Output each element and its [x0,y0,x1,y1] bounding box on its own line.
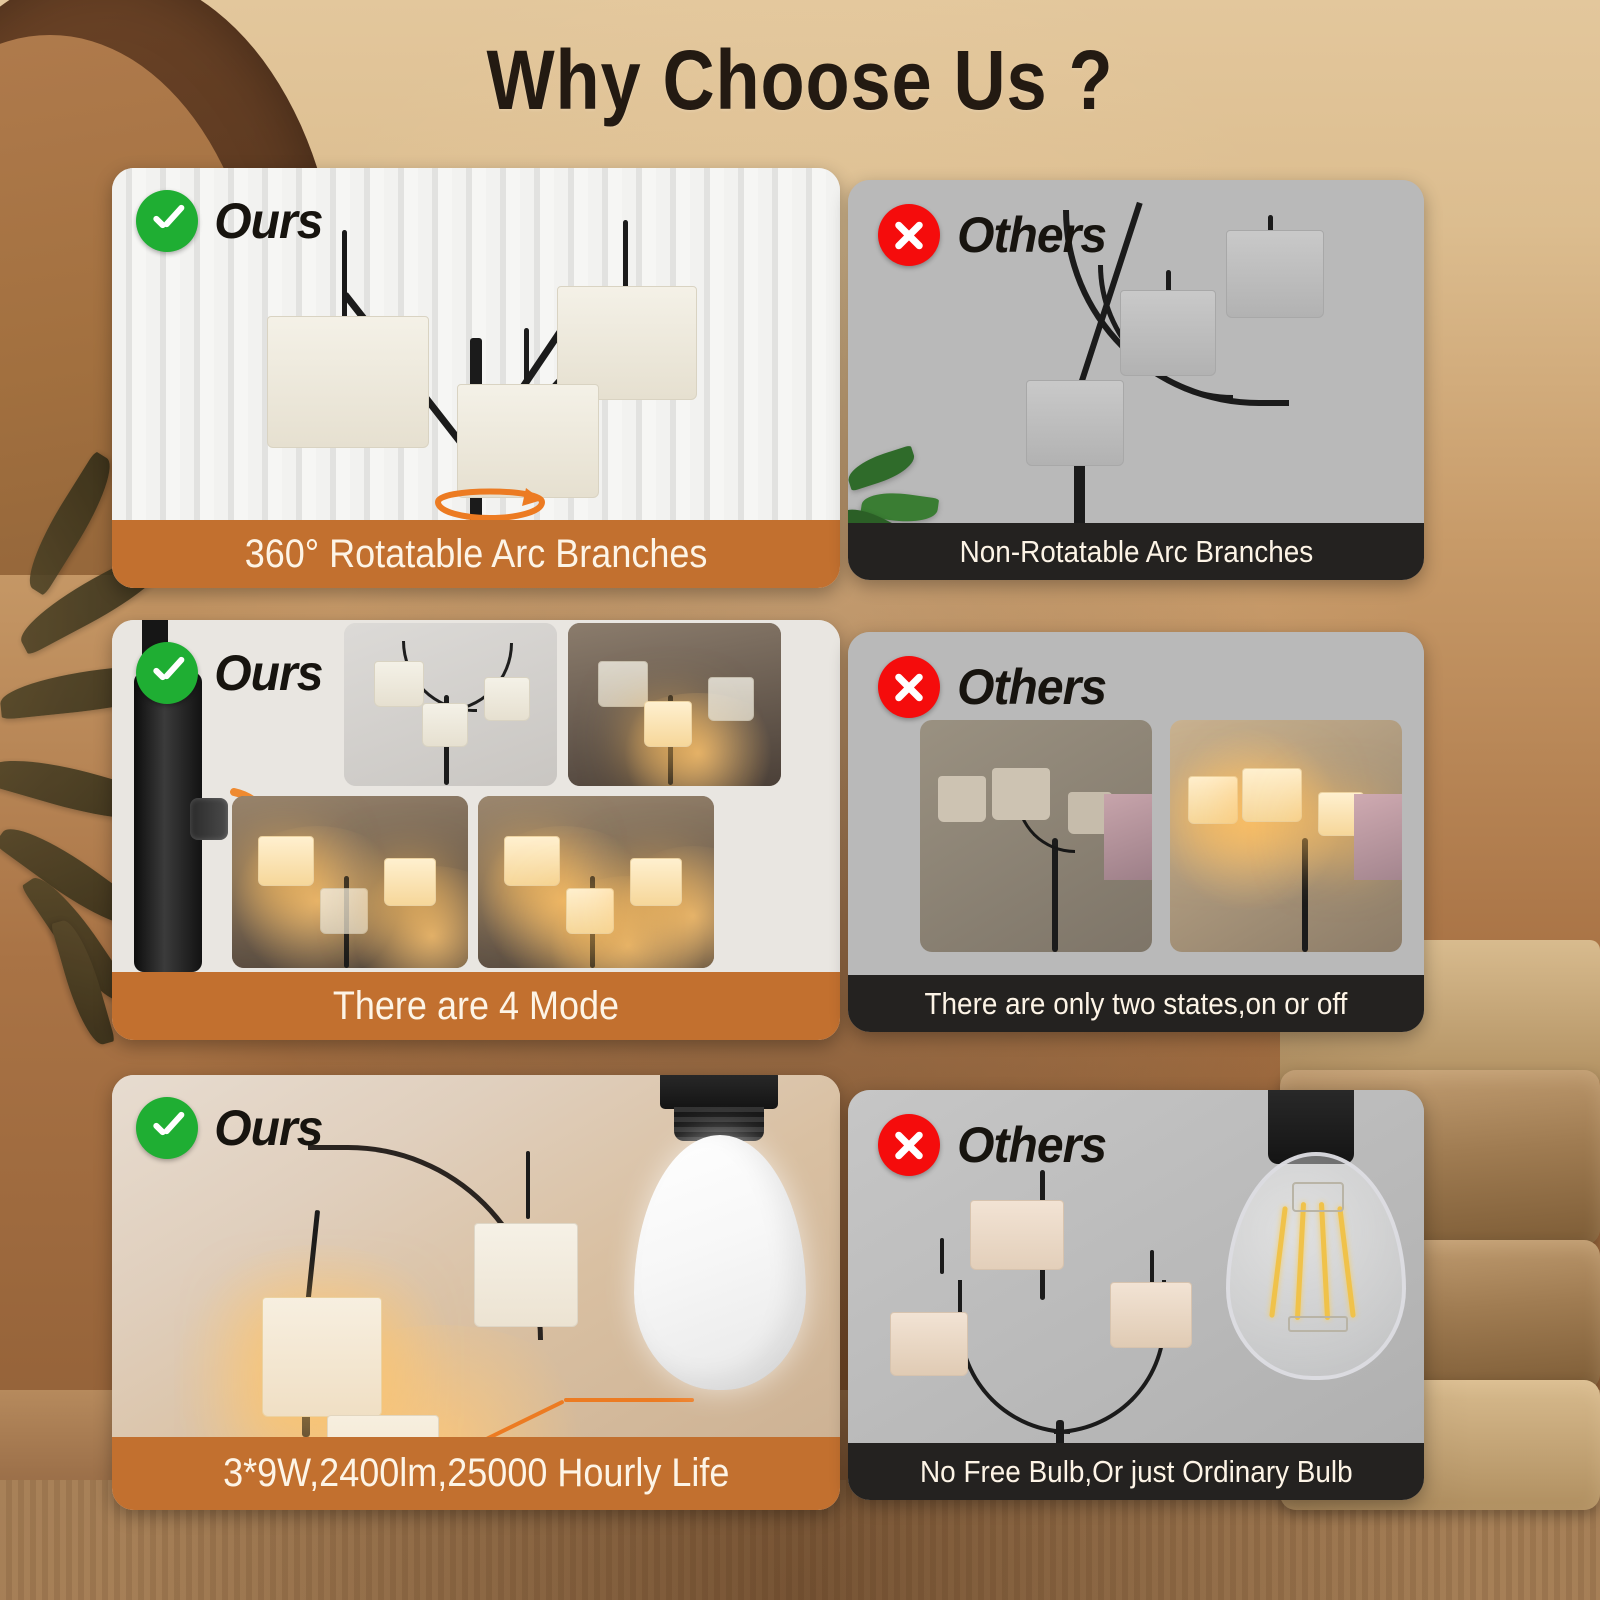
mode-thumb-3 [232,796,468,968]
card-ours-rotatable: 360° Rotatable Arc Branches Ours [112,168,840,588]
caption-others-rotatable: Non-Rotatable Arc Branches [848,523,1424,580]
badge-label: Ours [214,192,322,250]
x-circle-icon [878,656,940,718]
bulb-base [660,1075,778,1109]
x-circle-icon [878,204,940,266]
badge-ours-rotatable: Ours [136,190,325,252]
x-circle-icon [878,1114,940,1176]
caption-others-modes: There are only two states,on or off [848,975,1424,1032]
badge-label: Ours [214,1099,322,1157]
caption-others-bulb: No Free Bulb,Or just Ordinary Bulb [848,1443,1424,1500]
badge-label: Others [957,658,1106,716]
caption-ours-modes: There are 4 Mode [112,972,840,1040]
card-others-modes: There are only two states,on or off Othe… [848,632,1424,1032]
badge-label: Others [957,1116,1106,1174]
badge-label: Ours [214,644,322,702]
card-ours-modes: There are 4 Mode Ours [112,620,840,1040]
check-circle-icon [136,1097,198,1159]
rotation-arrow-icon [430,478,550,520]
callout-line-horizontal [564,1398,694,1402]
check-circle-icon [136,642,198,704]
others-thumb-on [1170,720,1402,952]
others-thumb-off [920,720,1152,952]
badge-others-bulb: Others [878,1114,1109,1176]
caption-ours-rotatable: 360° Rotatable Arc Branches [112,520,840,588]
mode-thumb-1 [344,623,557,786]
badge-ours-modes: Ours [136,642,325,704]
caption-ours-bulb: 3*9W,2400lm,25000 Hourly Life [112,1437,840,1510]
badge-label: Others [957,206,1106,264]
mode-thumb-4 [478,796,714,968]
check-circle-icon [136,190,198,252]
mode-thumb-2 [568,623,781,786]
card-others-bulb: No Free Bulb,Or just Ordinary Bulb Other… [848,1090,1424,1500]
infographic-canvas: Why Choose Us ? 360° Rotata [0,0,1600,1600]
badge-ours-bulb: Ours [136,1097,325,1159]
card-ours-bulb: 3*9W,2400lm,25000 Hourly Life Ours [112,1075,840,1510]
card-others-rotatable: Non-Rotatable Arc Branches Others [848,180,1424,580]
badge-others-rotatable: Others [878,204,1109,266]
page-title: Why Choose Us ? [112,38,1488,122]
badge-others-modes: Others [878,656,1109,718]
